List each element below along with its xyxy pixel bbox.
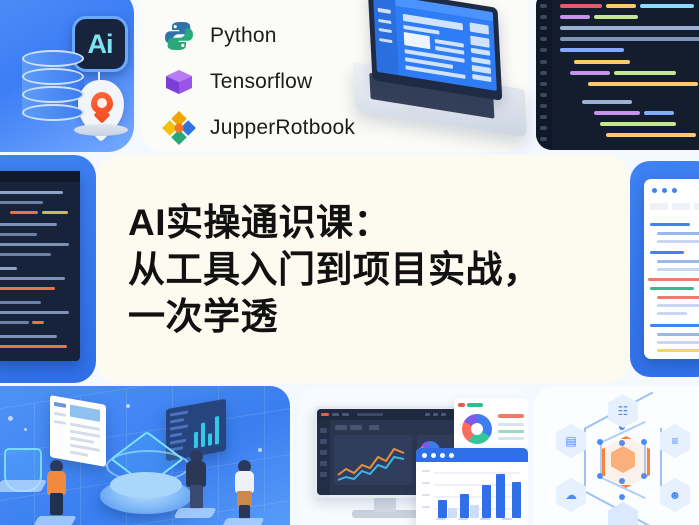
pin-base [74, 124, 128, 136]
person [232, 460, 260, 522]
code-editor-icon [536, 0, 699, 150]
tech-stack-label: Python [210, 24, 277, 48]
line-chart [334, 435, 412, 485]
tech-stack-card: Python Tensorflow [140, 0, 528, 152]
database-icon [22, 50, 84, 124]
document-outline-icon [630, 161, 699, 377]
bar-chart-window [416, 448, 528, 525]
ai-badge-icon: Ai [72, 16, 128, 72]
title-row: AI实操通识课： 从工具入门到项目实战， 一次学透 [0, 155, 699, 383]
analytics-dashboard-illustration-icon [298, 386, 528, 525]
tech-stack-label: Tensorflow [210, 70, 312, 94]
person [44, 460, 72, 520]
location-pin-marker-icon [91, 92, 113, 114]
tech-stack-item-jupyter[interactable]: JupperRotbook [162, 106, 355, 150]
cloud-icon[interactable]: ☁ [556, 478, 586, 512]
tensorflow-logo-icon [162, 65, 196, 99]
donut-chart-card [454, 398, 528, 452]
bottom-row: ☷ ▤ ≡ ☁ ☻ [0, 386, 699, 525]
code-editor-window-icon [0, 155, 96, 383]
window-dots [652, 188, 677, 193]
hexagon-network-illustration-icon: ☷ ▤ ≡ ☁ ☻ [534, 386, 699, 525]
title-line-2: 从工具入门到项目实战， [128, 246, 541, 293]
poster-canvas: Ai Python [0, 0, 699, 525]
users-icon[interactable]: ☻ [660, 478, 690, 512]
top-row: Ai Python [0, 0, 699, 152]
page-title: AI实操通识课： 从工具入门到项目实战， 一次学透 [96, 199, 541, 340]
course-title-card: AI实操通识课： 从工具入门到项目实战， 一次学透 [96, 155, 630, 383]
title-line-3: 一次学透 [128, 293, 541, 340]
ai-tools-tile: Ai [0, 0, 134, 152]
jupyter-logo-icon [162, 111, 196, 145]
server-icon[interactable]: ▤ [556, 424, 586, 458]
network-icon[interactable]: ≡ [660, 424, 690, 458]
doc-tabs[interactable] [650, 203, 699, 210]
tech-stack-list: Python Tensorflow [162, 14, 355, 152]
document-screen [50, 395, 106, 467]
tech-stack-label: JupperRotbook [210, 116, 355, 140]
tech-stack-item-tensorflow[interactable]: Tensorflow [162, 60, 355, 104]
title-line-1: AI实操通识课： [128, 199, 541, 246]
laptop-illustration-icon [348, 0, 538, 138]
person [184, 450, 212, 512]
chip-icon[interactable]: ☷ [608, 394, 638, 428]
python-logo-icon [162, 19, 196, 53]
tech-stack-item-python[interactable]: Python [162, 14, 355, 58]
isometric-team-illustration-icon [0, 386, 290, 525]
